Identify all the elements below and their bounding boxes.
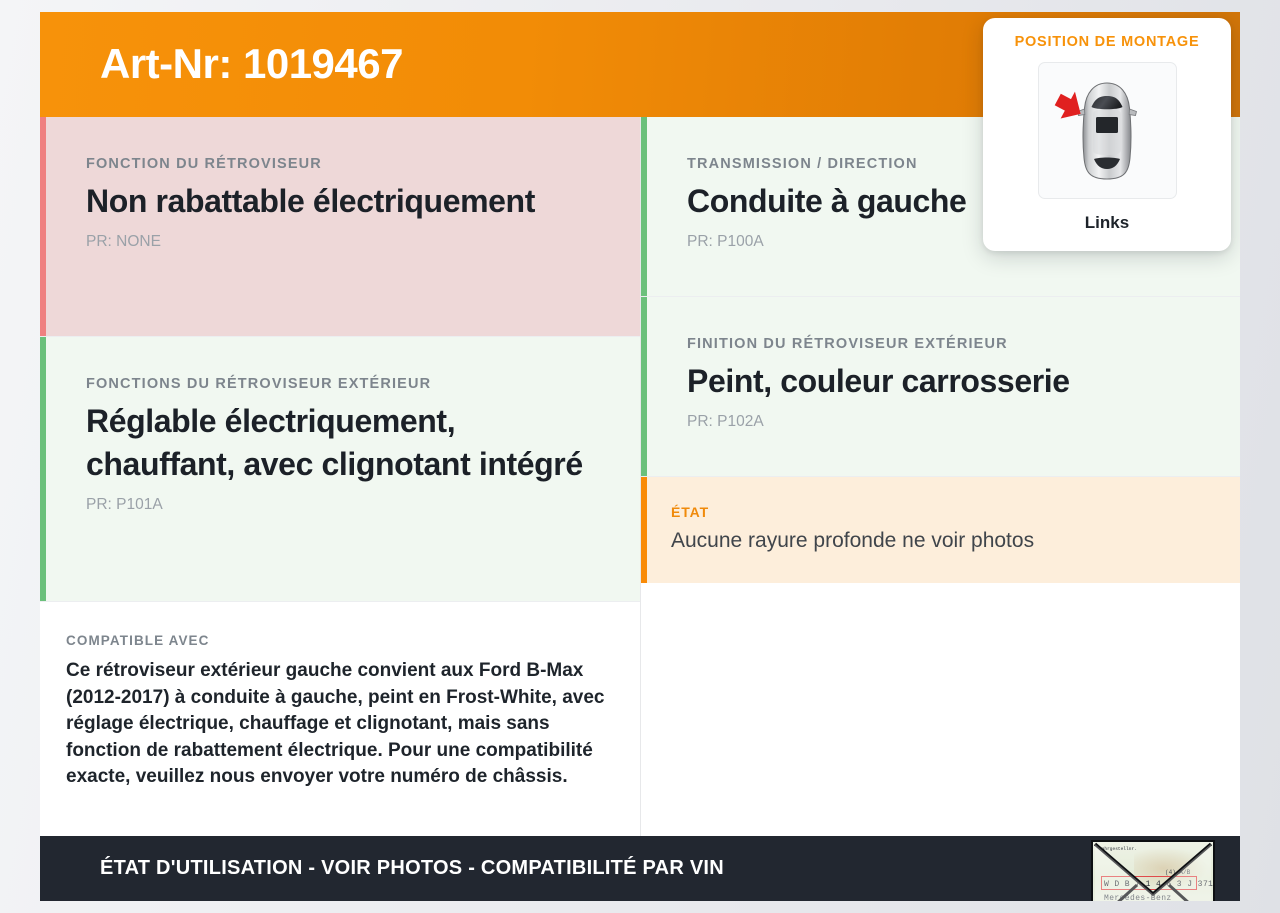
mounting-position-title: POSITION DE MONTAGE [983, 34, 1231, 50]
page-title: Art-Nr: 1019467 [100, 38, 403, 90]
footer-notice: ÉTAT D'UTILISATION - VOIR PHOTOS - COMPA… [100, 836, 724, 901]
spec-label: FONCTIONS DU RÉTROVISEUR EXTÉRIEUR [86, 375, 596, 393]
left-column: FONCTION DU RÉTROVISEUR Non rabattable é… [40, 117, 640, 836]
condition-value: Aucune rayure profonde ne voir photos [671, 526, 1196, 555]
spec-value: Réglable électriquement, chauffant, avec… [86, 400, 596, 486]
footer-bar: ÉTAT D'UTILISATION - VOIR PHOTOS - COMPA… [40, 836, 1240, 901]
spec-label: FONCTION DU RÉTROVISEUR [86, 155, 596, 173]
compatibility-text: Ce rétroviseur extérieur gauche convient… [66, 658, 610, 791]
accent-bar-green [641, 297, 647, 476]
spec-card-mirror-features: FONCTIONS DU RÉTROVISEUR EXTÉRIEUR Régla… [40, 337, 640, 602]
envelope-overlay-icon [1093, 842, 1213, 901]
mounting-position-caption: Links [983, 213, 1231, 233]
spec-value: Non rabattable électriquement [86, 180, 596, 223]
red-arrow-icon [1050, 86, 1088, 126]
spec-value: Peint, couleur carrosserie [687, 360, 1196, 403]
accent-bar-red [40, 117, 46, 336]
accent-bar-orange [641, 477, 647, 583]
spec-card-condition: ÉTAT Aucune rayure profonde ne voir phot… [641, 477, 1240, 583]
envelope-svg [1093, 842, 1213, 901]
accent-bar-green [641, 117, 647, 296]
mounting-position-card: POSITION DE MONTAGE [983, 18, 1231, 251]
spec-card-finish: FINITION DU RÉTROVISEUR EXTÉRIEUR Peint,… [641, 297, 1240, 477]
spec-card-mirror-function: FONCTION DU RÉTROVISEUR Non rabattable é… [40, 117, 640, 337]
spec-label: FINITION DU RÉTROVISEUR EXTÉRIEUR [687, 335, 1196, 353]
car-diagram-svg [1039, 63, 1176, 198]
spec-pr-code: PR: P101A [86, 495, 596, 515]
vehicle-registration-vin-envelope-icon: Fahrgestellnr. (4) A/B W D B 7 1 4 6 3 J… [1091, 840, 1215, 901]
spec-pr-code: PR: P102A [687, 412, 1196, 432]
accent-bar-green [40, 337, 46, 601]
car-top-view-left-mirror-arrow-icon [1038, 62, 1177, 199]
spec-pr-code: PR: NONE [86, 232, 596, 252]
product-sheet: Art-Nr: 1019467 FONCTION DU RÉTROVISEUR … [40, 12, 1240, 901]
condition-label: ÉTAT [671, 503, 1196, 521]
compatibility-label: COMPATIBLE AVEC [66, 632, 610, 650]
compatibility-card: COMPATIBLE AVEC Ce rétroviseur extérieur… [40, 602, 640, 821]
